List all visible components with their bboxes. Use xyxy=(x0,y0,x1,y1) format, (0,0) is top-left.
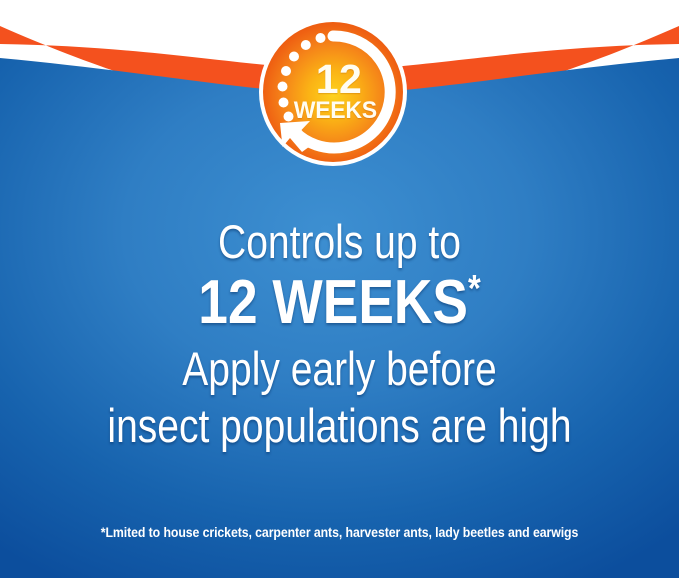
headline-line-2-text: 12 WEEKS xyxy=(198,268,468,337)
badge-dot xyxy=(279,98,289,108)
footnote-disclaimer: *Lmited to house crickets, carpenter ant… xyxy=(41,524,639,540)
badge-dot xyxy=(284,112,294,122)
headline-line-3: Apply early before xyxy=(58,340,622,397)
headline-line-1: Controls up to xyxy=(58,214,622,270)
badge-dot xyxy=(278,82,288,92)
promo-banner: 12 WEEKS Controls up to 12 WEEKS* Apply … xyxy=(0,0,679,578)
badge-dot xyxy=(301,40,311,50)
headline-line-2: 12 WEEKS* xyxy=(48,268,632,338)
badge-dot xyxy=(281,66,291,76)
headline-block: Controls up to 12 WEEKS* Apply early bef… xyxy=(0,214,679,454)
badge-dot xyxy=(289,52,299,62)
twelve-weeks-badge: 12 WEEKS xyxy=(258,17,408,167)
headline-line-4: insect populations are high xyxy=(58,397,622,454)
headline-asterisk: * xyxy=(468,268,481,310)
badge-dot xyxy=(316,33,326,43)
badge-graphic xyxy=(258,17,408,167)
